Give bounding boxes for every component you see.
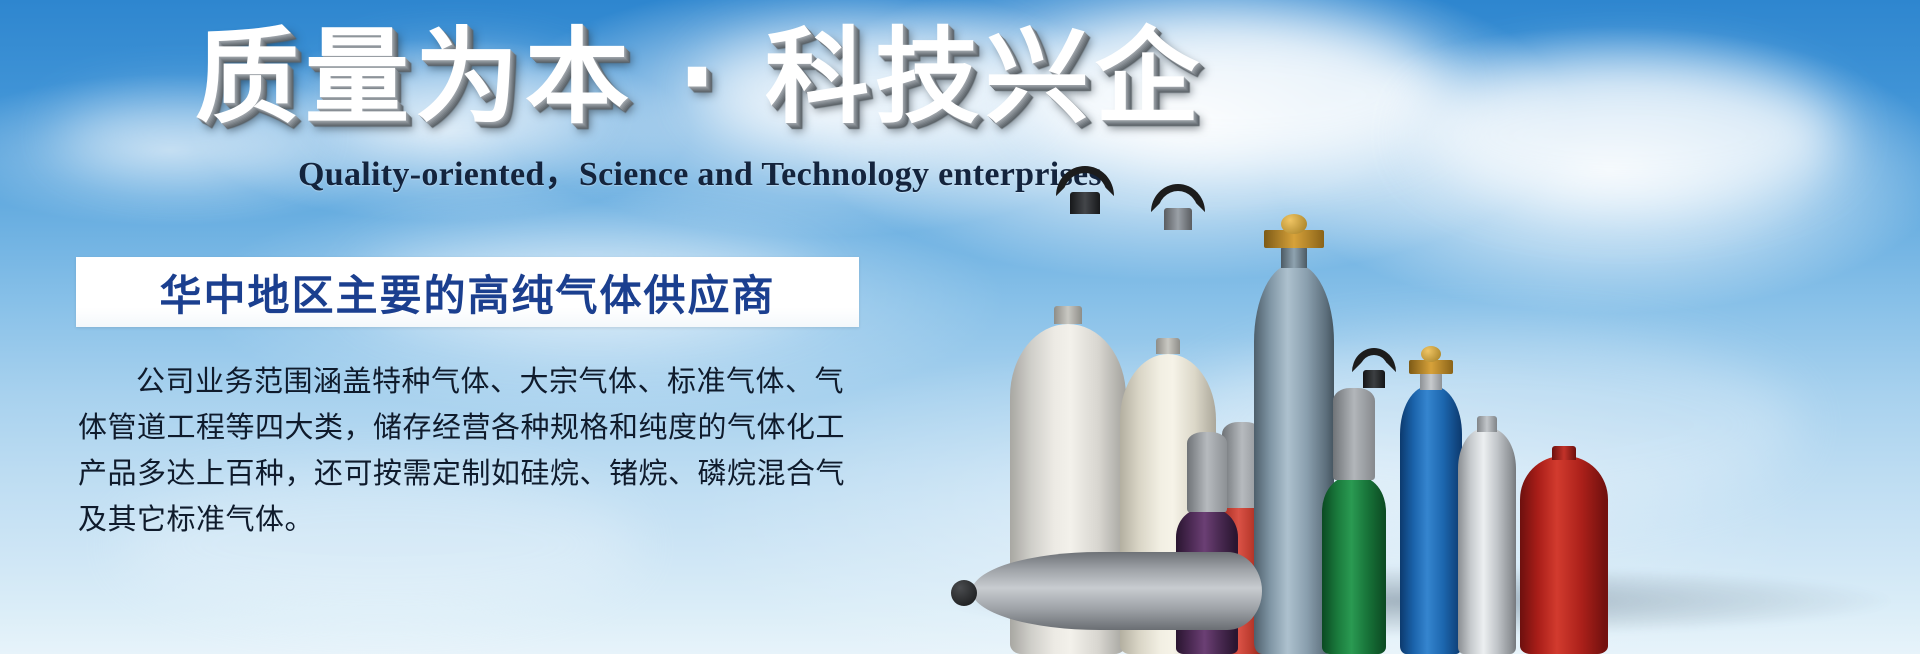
cylinder-alu-slim	[1458, 428, 1516, 654]
cylinder-neck	[1420, 372, 1442, 390]
cylinder-red-wide	[1520, 456, 1608, 654]
gas-cylinder-group	[930, 0, 1920, 654]
cylinder-blue-slim	[1400, 386, 1462, 654]
cylinder-neck	[1054, 306, 1082, 324]
cylinder-handle	[1056, 166, 1114, 196]
cylinder-valve	[1409, 360, 1453, 374]
cylinder-knob	[1281, 214, 1307, 234]
description-text: 公司业务范围涵盖特种气体、大宗气体、标准气体、气体管道工程等四大类，储存经营各种…	[78, 358, 868, 542]
promo-banner: 质量为本 · 科技兴企 Quality-oriented，Science and…	[0, 0, 1920, 654]
cylinder-alu-short	[1278, 524, 1344, 654]
cylinder-knob	[1421, 346, 1441, 362]
cylinder-lying-grey	[972, 552, 1262, 630]
cylinder-neck	[1477, 416, 1497, 432]
slogan-text: 华中地区主要的高纯气体供应商	[159, 262, 775, 323]
cylinder-handle	[1352, 348, 1396, 372]
description-paragraph: 公司业务范围涵盖特种气体、大宗气体、标准气体、气体管道工程等四大类，储存经营各种…	[78, 358, 868, 542]
slogan-box: 华中地区主要的高纯气体供应商	[76, 257, 859, 327]
cylinder-neck	[1281, 246, 1307, 268]
cylinder-neck	[1363, 370, 1385, 388]
cylinder-neck	[1156, 338, 1180, 354]
cylinder-neck	[1552, 446, 1576, 460]
cylinder-cap	[1333, 388, 1375, 480]
cylinder-handle	[1151, 184, 1205, 212]
cylinder-cap	[1187, 432, 1227, 512]
cylinder-lying-valve	[951, 580, 977, 606]
